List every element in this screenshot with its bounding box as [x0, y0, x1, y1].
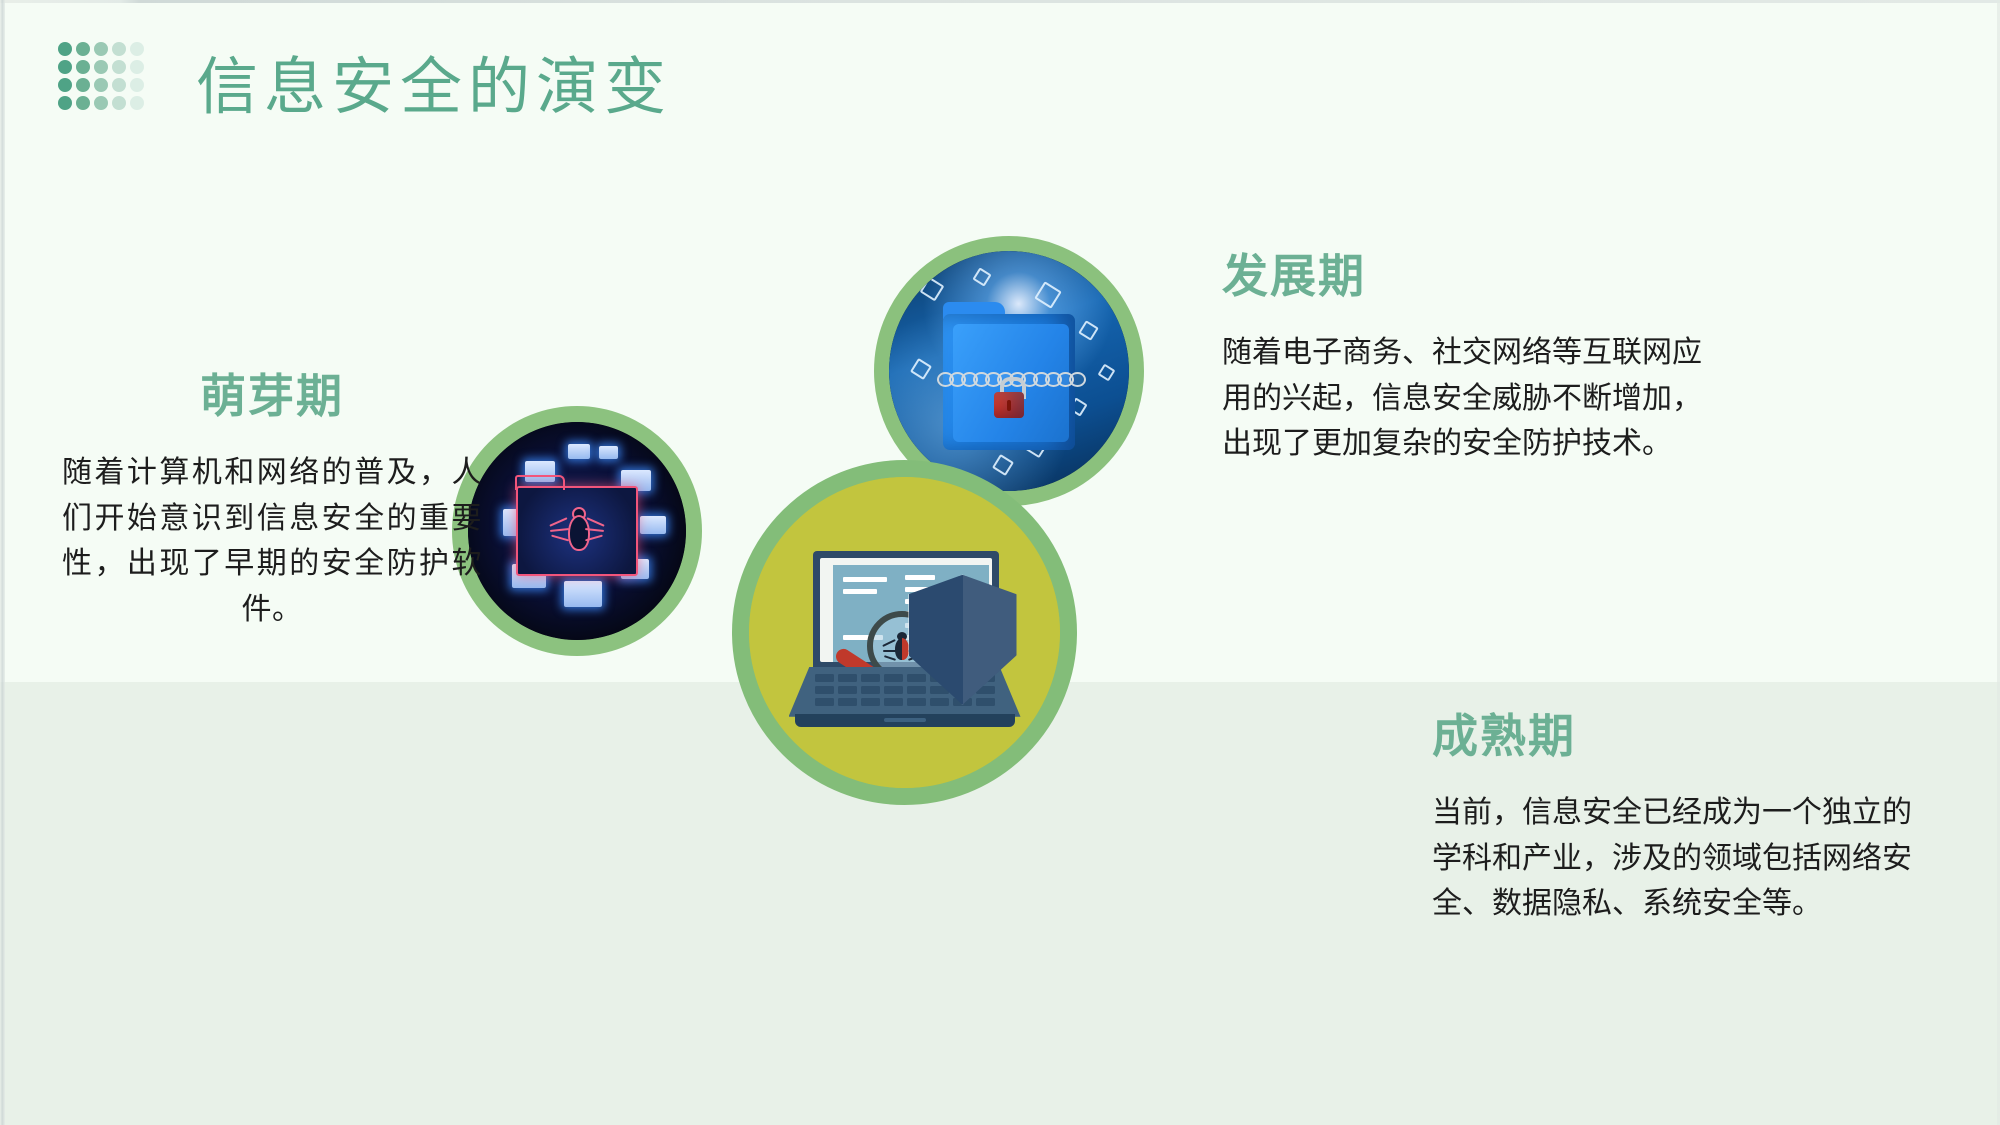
grid-dot-icon	[58, 60, 72, 74]
mini-folder-icon	[640, 516, 666, 534]
grid-dot-icon	[94, 60, 108, 74]
laptop-foot	[795, 714, 1015, 727]
section-body-growth: 随着电子商务、社交网络等互联网应用的兴起，信息安全威胁不断增加，出现了更加复杂的…	[1222, 330, 1722, 467]
section-body-budding: 随着计算机和网络的普及，人们开始意识到信息安全的重要性，出现了早期的安全防护软件…	[62, 450, 482, 632]
virus-folder-scene	[468, 422, 686, 640]
grid-dot-icon	[58, 96, 72, 110]
grid-dot-icon	[130, 60, 144, 74]
bug-body	[895, 638, 909, 660]
left-edge-divider	[0, 0, 5, 1125]
folder-graphic	[943, 302, 1075, 450]
grid-dot-icon	[94, 78, 108, 92]
mini-folder-icon	[568, 444, 590, 459]
grid-dot-icon	[76, 60, 90, 74]
section-body-mature: 当前，信息安全已经成为一个独立的学科和产业，涉及的领域包括网络安全、数据隐私、系…	[1432, 790, 1932, 927]
grid-dot-icon	[130, 96, 144, 110]
locked-folder-scene	[889, 251, 1129, 491]
grid-dot-icon	[130, 78, 144, 92]
laptop-shield-scene	[749, 477, 1060, 788]
section-budding: 萌芽期 随着计算机和网络的普及，人们开始意识到信息安全的重要性，出现了早期的安全…	[62, 360, 482, 632]
virus-bug-icon	[549, 505, 605, 557]
page-title: 信息安全的演变	[196, 36, 672, 126]
slide-header: 信息安全的演变	[0, 0, 2000, 160]
section-heading-mature: 成熟期	[1432, 700, 1932, 766]
image-virus-folder	[452, 406, 702, 656]
image-laptop-shield	[732, 460, 1077, 805]
grid-dot-icon	[112, 96, 126, 110]
padlock-keyhole	[1007, 400, 1011, 411]
bug-body	[568, 515, 590, 551]
padlock-icon	[994, 378, 1024, 418]
mini-folder-icon	[564, 581, 602, 607]
section-heading-growth: 发展期	[1222, 240, 1722, 306]
grid-dot-icon	[94, 96, 108, 110]
mini-folder-icon	[599, 446, 618, 459]
slide-root: 信息安全的演变	[0, 0, 2000, 1125]
grid-dot-icon	[94, 42, 108, 56]
laptop-icon	[789, 551, 1021, 727]
section-growth: 发展期 随着电子商务、社交网络等互联网应用的兴起，信息安全威胁不断增加，出现了更…	[1222, 240, 1722, 467]
grid-dot-icon	[112, 42, 126, 56]
infected-folder-icon	[516, 486, 638, 576]
grid-dot-icon	[76, 78, 90, 92]
section-heading-budding: 萌芽期	[62, 360, 482, 426]
grid-dot-icon	[58, 78, 72, 92]
grid-dot-icon	[76, 96, 90, 110]
grid-dot-icon	[130, 42, 144, 56]
grid-dot-icon	[112, 78, 126, 92]
grid-dot-icon	[58, 42, 72, 56]
dot-grid-decoration-icon	[58, 42, 148, 114]
grid-dot-icon	[112, 60, 126, 74]
grid-dot-icon	[76, 42, 90, 56]
section-mature: 成熟期 当前，信息安全已经成为一个独立的学科和产业，涉及的领域包括网络安全、数据…	[1432, 700, 1932, 927]
